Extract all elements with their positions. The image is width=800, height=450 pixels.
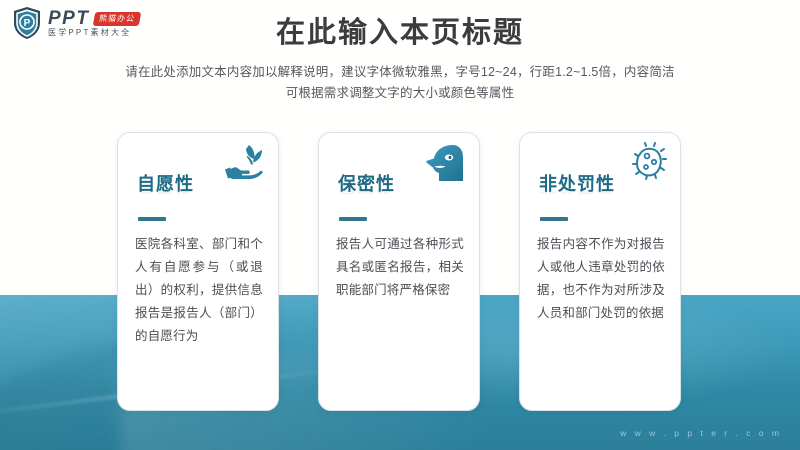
card-body-text: 报告人可通过各种形式具名或匿名报告，相关职能部门将严格保密 [336,233,464,302]
card-body-text: 医院各科室、部门和个人有自愿参与（或退出）的权利，提供信息报告是报告人（部门）的… [135,233,263,348]
card-group: 自愿性 自愿性 医院各科室、部门和个人有自愿参与（或退出）的权利，提供信息报告是… [0,132,800,412]
head-profile-icon [423,142,467,184]
card-underline [540,217,568,221]
card-body-text: 报告内容不作为对报告人或他人违章处罚的依据，也不作为对所涉及人员和部门处罚的依据 [537,233,665,325]
card-title: 非处罚性 [539,175,615,193]
page-subtitle: 请在此处添加文本内容加以解释说明，建议字体微软雅黑，字号12~24，行距1.2~… [0,62,800,104]
card-voluntary[interactable]: 自愿性 自愿性 医院各科室、部门和个人有自愿参与（或退出）的权利，提供信息报告是… [117,132,279,411]
card-title: 保密性 [338,175,395,193]
hand-sprout-icon [222,142,266,184]
card-underline [339,217,367,221]
subtitle-line-1: 请在此处添加文本内容加以解释说明，建议字体微软雅黑，字号12~24，行距1.2~… [0,62,800,83]
subtitle-line-2: 可根据需求调整文字的大小或颜色等属性 [0,83,800,104]
card-non-punitive[interactable]: 非处罚性 非处罚性 报告内容不作为对报告人或他人违章处罚的依据，也不作为对所涉及… [519,132,681,411]
bacteria-icon [624,142,668,184]
card-title: 自愿性 [137,175,194,193]
page-title: 在此输入本页标题 [0,16,800,51]
card-confidentiality[interactable]: 保密性 保密性 报告人可通过各种形式具名或匿名报告，相关职能部门将严格保密 [318,132,480,411]
slide: P PPT 熊猫办公 医学PPT素材大全 在此输入本页标题 请在此处添加文本内容… [0,0,800,450]
card-underline [138,217,166,221]
site-watermark: w w w . p p t e r . c o m [620,428,782,438]
